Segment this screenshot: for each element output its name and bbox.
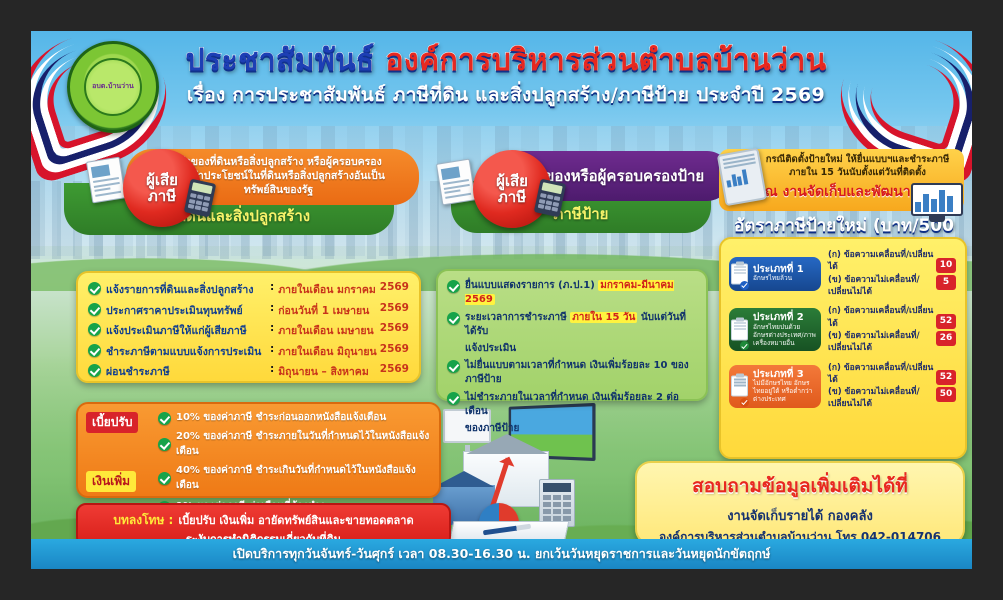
sign-info-row: ระยะเวลาการชำระภาษี ภายใน 15 วัน นับแต่ว… (447, 311, 697, 339)
land-payer-desc-line-3: ทรัพย์สินของรัฐ (244, 184, 313, 198)
land-schedule-row: แจ้งประเมินภาษีให้แก่ผู้เสียภาษี:ภายในเด… (88, 322, 409, 339)
punishment-line-1: บทลงโทษ : เบี้ยปรับ เงินเพิ่ม อายัดทรัพย… (86, 509, 441, 530)
seal-inner-emblem: อบต.บ้านว่าน (84, 58, 142, 116)
land-schedule-colon: : (270, 363, 274, 375)
rate-description-a: (ก) ข้อความเคลื่อนที่/เปลี่ยนได้ (828, 305, 935, 330)
sign-info-rows: ยื่นแบบแสดงรายการ (ภ.ป.1) มกราคม-มีนาคม … (447, 279, 697, 436)
check-icon (158, 472, 171, 485)
sign-info-text: ไม่ยื่นแบบตามเวลาที่กำหนด เงินเพิ่มร้อยล… (465, 359, 697, 387)
rate-value-a: 52 (936, 314, 956, 329)
land-payer-badge-line-1: ผู้เสีย (146, 172, 178, 189)
rate-type-subtitle: อักษรไทยล้วน (753, 275, 817, 283)
rate-type-subtitle: ไม่มีอักษรไทย อักษรไทยอยู่ใต้ หรือต่ำกว่… (753, 380, 817, 403)
sign-info-text: ไม่ชำระภายในเวลาที่กำหนด เงินเพิ่มร้อยละ… (465, 391, 697, 419)
check-icon (158, 412, 171, 425)
land-schedule-row: ชำระภาษีตามแบบแจ้งการประเมิน:ภายในเดือน … (88, 343, 409, 360)
check-icon (447, 280, 460, 293)
rate-table-row: ประเภทที่ 1อักษรไทยล้วน(ก) ข้อความเคลื่อ… (729, 249, 957, 298)
land-schedule-year: 2569 (377, 363, 409, 375)
contact-heading: สอบถามข้อมูลเพิ่มเติมได้ที่ (647, 471, 953, 501)
document-icon (436, 159, 476, 206)
sign-info-row: ยื่นแบบแสดงรายการ (ภ.ป.1) มกราคม-มีนาคม … (447, 279, 697, 307)
sign-info-text: ระยะเวลาการชำระภาษี ภายใน 15 วัน นับแต่ว… (465, 311, 697, 339)
poster-header: ประชาสัมพันธ์ องค์การบริหารส่วนตำบลบ้านว… (161, 45, 851, 110)
page-title-part-2: องค์การบริหารส่วนตำบลบ้านว่าน (386, 43, 827, 78)
rate-value-a: 52 (936, 370, 956, 385)
large-calculator-icon (539, 479, 575, 527)
rate-description-b: (ข) ข้อความไม่เคลื่อนที่/เปลี่ยนไม่ได้ (828, 386, 935, 411)
sign-rate-table-card: ประเภทที่ 1อักษรไทยล้วน(ก) ข้อความเคลื่อ… (719, 237, 967, 459)
check-icon (447, 392, 460, 405)
land-schedule-year: 2569 (377, 281, 409, 293)
land-schedule-period: ภายในเดือน มิถุนายน (278, 343, 377, 360)
land-schedule-period: ก่อนวันที่ 1 เมษายน (278, 302, 377, 319)
fine-tag-label: เบี้ยปรับ (86, 412, 138, 433)
land-schedule-label: แจ้งรายการที่ดินและสิ่งปลูกสร้าง (106, 281, 266, 298)
sign-tax-banner-label: ภาษีป้าย (554, 202, 609, 226)
rate-type-badge: ประเภทที่ 1อักษรไทยล้วน (729, 257, 821, 291)
land-schedule-row: ประกาศราคาประเมินทุนทรัพย์:ก่อนวันที่ 1 … (88, 302, 409, 319)
clipboard-icon (731, 319, 748, 340)
land-tax-schedule-card: แจ้งรายการที่ดินและสิ่งปลูกสร้าง:ภายในเด… (76, 271, 421, 383)
poster-canvas: อบต.บ้านว่าน ประชาสัมพันธ์ องค์การบริหาร… (31, 31, 972, 569)
rate-type-subtitle: อักษรไทยปนด้วย อักษรต่างประเทศ/ภาพ เครื่… (753, 324, 817, 347)
land-schedule-year: 2569 (377, 343, 409, 355)
sign-payer-badge-line-1: ผู้เสีย (496, 173, 528, 190)
land-schedule-colon: : (270, 343, 274, 355)
land-payer-desc-line-1: เจ้าของที่ดินหรือสิ่งปลูกสร้าง หรือผู้คร… (175, 156, 382, 170)
rate-table-row: ประเภทที่ 2อักษรไทยปนด้วย อักษรต่างประเท… (729, 305, 957, 354)
land-schedule-label: ประกาศราคาประเมินทุนทรัพย์ (106, 302, 266, 319)
sign-info-continuation: ของภาษีป้าย (447, 422, 697, 436)
sign-info-row: ไม่ยื่นแบบตามเวลาที่กำหนด เงินเพิ่มร้อยล… (447, 359, 697, 387)
check-icon (447, 312, 460, 325)
notice-line-1: กรณีติดตั้งป้ายใหม่ ให้ยื่นแบบฯและชำระภา… (759, 154, 956, 167)
rate-type-badge: ประเภทที่ 2อักษรไทยปนด้วย อักษรต่างประเท… (729, 308, 821, 351)
rate-values-group: 5226 (935, 314, 957, 346)
monitor-chart-icon (911, 183, 963, 223)
penalty-text: 20% ของค่าภาษี ชำระภายในวันที่กำหนดไว้ใน… (176, 429, 431, 459)
land-schedule-label: ผ่อนชำระภาษี (106, 363, 266, 380)
rate-description-group: (ก) ข้อความเคลื่อนที่/เปลี่ยนได้(ข) ข้อค… (821, 362, 935, 411)
land-schedule-colon: : (270, 281, 274, 293)
check-badge-icon (740, 341, 749, 350)
penalty-text: 10% ของค่าภาษี ชำระก่อนออกหนังสือแจ้งเตื… (176, 410, 386, 425)
rate-table-rows: ประเภทที่ 1อักษรไทยล้วน(ก) ข้อความเคลื่อ… (729, 249, 957, 411)
check-icon (88, 364, 101, 377)
tablet-report-icon (717, 148, 767, 207)
rate-value-b: 5 (936, 275, 956, 290)
rate-description-a: (ก) ข้อความเคลื่อนที่/เปลี่ยนได้ (828, 249, 935, 274)
rate-value-b: 50 (936, 387, 956, 402)
land-schedule-year: 2569 (377, 322, 409, 334)
check-icon (88, 344, 101, 357)
rate-type-badge: ประเภทที่ 3ไม่มีอักษรไทย อักษรไทยอยู่ใต้… (729, 365, 821, 408)
check-icon (88, 323, 101, 336)
sign-info-highlight: มกราคม-มีนาคม 2569 (465, 280, 674, 305)
page-title: ประชาสัมพันธ์ องค์การบริหารส่วนตำบลบ้านว… (161, 45, 851, 77)
sign-tax-info-card: ยื่นแบบแสดงรายการ (ภ.ป.1) มกราคม-มีนาคม … (436, 269, 708, 401)
punishment-tag-label: บทลงโทษ : (113, 513, 173, 527)
sign-payer-badge-line-2: ภาษี (498, 189, 526, 206)
thai-flag-ribbon-right-icon (840, 37, 972, 167)
land-schedule-label: ชำระภาษีตามแบบแจ้งการประเมิน (106, 343, 266, 360)
penalty-row: 20% ของค่าภาษี ชำระภายในวันที่กำหนดไว้ใน… (158, 429, 431, 459)
rate-values-group: 5250 (935, 370, 957, 402)
sign-info-continuation: แจ้งประเมิน (447, 342, 697, 356)
penalty-text: 40% ของค่าภาษี ชำระเกินวันที่กำหนดไว้ในห… (176, 463, 431, 493)
sign-info-highlight: ภายใน 15 วัน (570, 312, 637, 323)
rate-table-row: ประเภทที่ 3ไม่มีอักษรไทย อักษรไทยอยู่ใต้… (729, 362, 957, 411)
check-icon (447, 360, 460, 373)
penalty-row: 10% ของค่าภาษี ชำระก่อนออกหนังสือแจ้งเตื… (158, 410, 431, 425)
land-schedule-colon: : (270, 322, 274, 334)
rate-value-a: 10 (936, 258, 956, 273)
land-schedule-period: ภายในเดือน มกราคม (278, 281, 377, 298)
contact-card: สอบถามข้อมูลเพิ่มเติมได้ที่ งานจัดเก็บรา… (635, 461, 965, 545)
rate-description-b: (ข) ข้อความไม่เคลื่อนที่/เปลี่ยนไม่ได้ (828, 330, 935, 355)
punishment-text-1: เบี้ยปรับ เงินเพิ่ม อายัดทรัพย์สินและขาย… (178, 514, 413, 527)
land-schedule-period: มิถุนายน – สิงหาคม (278, 363, 377, 380)
rate-description-b: (ข) ข้อความไม่เคลื่อนที่/เปลี่ยนไม่ได้ (828, 274, 935, 299)
check-badge-icon (740, 281, 749, 290)
sign-info-row: ไม่ชำระภายในเวลาที่กำหนด เงินเพิ่มร้อยละ… (447, 391, 697, 419)
page-title-part-1: ประชาสัมพันธ์ (186, 43, 386, 78)
land-schedule-period: ภายในเดือน เมษายน (278, 322, 377, 339)
check-icon (88, 282, 101, 295)
service-hours-text: เปิดบริการทุกวันจันทร์-วันศุกร์ เวลา 08.… (233, 544, 771, 564)
organization-seal-icon: อบต.บ้านว่าน (67, 41, 159, 133)
land-payer-badge-line-2: ภาษี (148, 188, 176, 205)
land-schedule-row: ผ่อนชำระภาษี:มิถุนายน – สิงหาคม2569 (88, 363, 409, 380)
surcharge-tag-label: เงินเพิ่ม (86, 471, 136, 492)
check-icon (158, 438, 171, 451)
check-icon (88, 303, 101, 316)
check-badge-icon (740, 398, 749, 407)
contact-department: งานจัดเก็บรายได้ กองคลัง (647, 505, 953, 526)
service-hours-footer: เปิดบริการทุกวันจันทร์-วันศุกร์ เวลา 08.… (31, 539, 972, 569)
rate-description-group: (ก) ข้อความเคลื่อนที่/เปลี่ยนได้(ข) ข้อค… (821, 249, 935, 298)
page-subtitle: เรื่อง การประชาสัมพันธ์ ภาษีที่ดิน และสิ… (161, 80, 851, 110)
land-schedule-year: 2569 (377, 302, 409, 314)
clipboard-icon (731, 376, 748, 397)
rate-description-a: (ก) ข้อความเคลื่อนที่/เปลี่ยนได้ (828, 362, 935, 387)
sign-info-text: ยื่นแบบแสดงรายการ (ภ.ป.1) มกราคม-มีนาคม … (465, 279, 697, 307)
land-schedule-label: แจ้งประเมินภาษีให้แก่ผู้เสียภาษี (106, 322, 266, 339)
notice-line-2: ภายใน 15 วันนับตั้งแต่วันที่ติดตั้ง (759, 167, 956, 180)
land-schedule-colon: : (270, 302, 274, 314)
penalty-card: เบี้ยปรับ เงินเพิ่ม 10% ของค่าภาษี ชำระก… (76, 402, 441, 498)
rate-value-b: 26 (936, 331, 956, 346)
land-schedule-row: แจ้งรายการที่ดินและสิ่งปลูกสร้าง:ภายในเด… (88, 281, 409, 298)
rate-values-group: 105 (935, 258, 957, 290)
penalty-row: 40% ของค่าภาษี ชำระเกินวันที่กำหนดไว้ในห… (158, 463, 431, 493)
land-schedule-rows: แจ้งรายการที่ดินและสิ่งปลูกสร้าง:ภายในเด… (88, 281, 409, 380)
rate-description-group: (ก) ข้อความเคลื่อนที่/เปลี่ยนได้(ข) ข้อค… (821, 305, 935, 354)
document-icon (86, 157, 126, 204)
